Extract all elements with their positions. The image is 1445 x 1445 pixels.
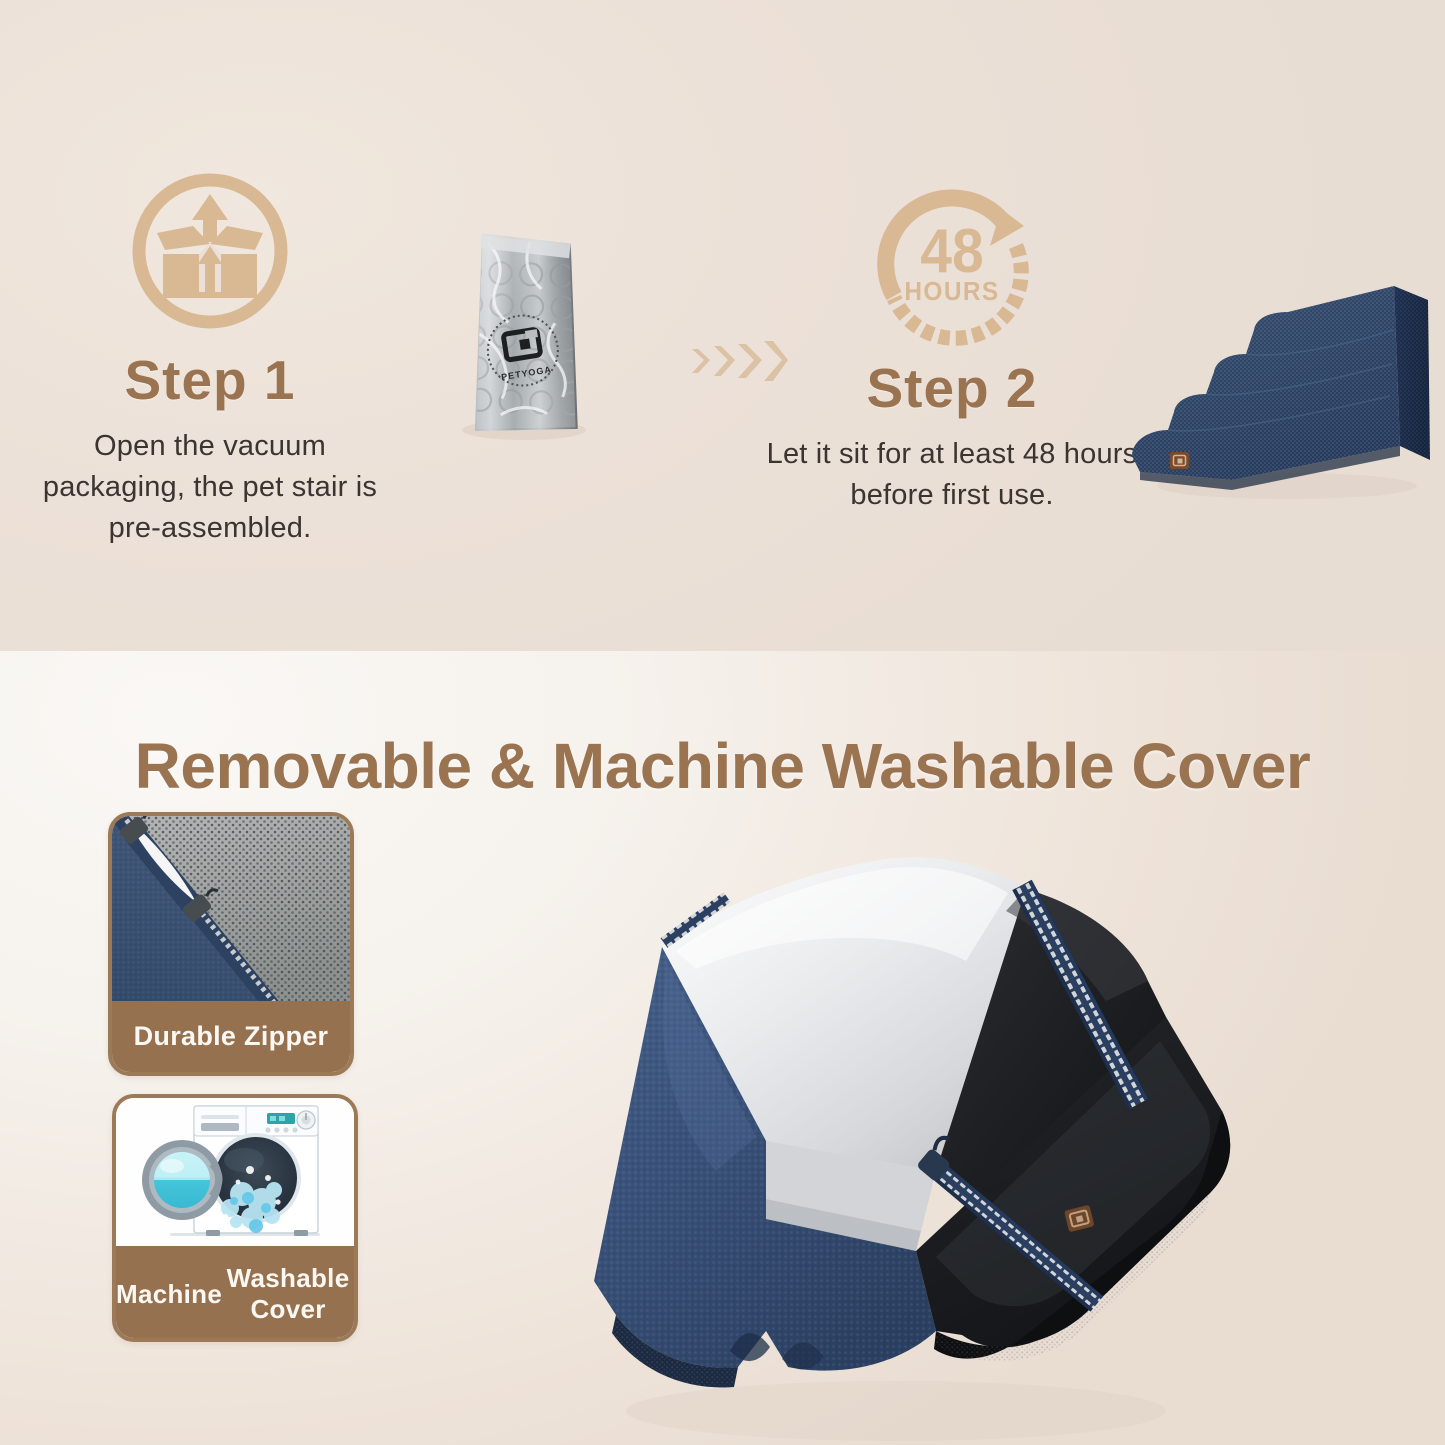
feature-card-caption: Machine Washable Cover (116, 1246, 354, 1342)
step-description: Open the vacuum packaging, the pet stair… (20, 426, 400, 550)
feature-card-machine-washable: Machine Washable Cover (112, 1094, 358, 1342)
48-hours-circular-arrow-icon: 48 HOURS (864, 176, 1040, 352)
step-1-block: Step 1 Open the vacuum packaging, the pe… (20, 168, 400, 549)
feature-card-caption: Durable Zipper (112, 1001, 350, 1072)
step-heading: Step 1 (20, 352, 400, 410)
caption-line-2: Washable Cover (222, 1263, 354, 1324)
vacuum-packed-roll-photo: PETYOGA (432, 224, 618, 440)
washing-machine-illustration (116, 1098, 354, 1246)
svg-text:HOURS: HOURS (904, 277, 999, 306)
step-description: Let it sit for at least 48 hours before … (762, 434, 1142, 516)
hero-product-photo (466, 811, 1256, 1445)
infographic-page: Step 1 Open the vacuum packaging, the pe… (0, 0, 1445, 1445)
feature-card-durable-zipper: Durable Zipper (108, 812, 354, 1076)
washable-cover-panel: Removable & Machine Washable Cover (0, 651, 1445, 1445)
steps-panel: Step 1 Open the vacuum packaging, the pe… (0, 0, 1445, 651)
svg-text:48: 48 (920, 216, 983, 286)
step-heading: Step 2 (762, 360, 1142, 418)
step-2-block: 48 HOURS Step 2 Let it sit for at least … (762, 176, 1142, 516)
caption-line-1: Machine (116, 1279, 222, 1310)
page-title: Removable & Machine Washable Cover (0, 729, 1445, 803)
open-box-arrow-up-icon (127, 168, 293, 334)
zipper-closeup-photo (112, 816, 350, 1001)
pet-stair-product-photo (1112, 234, 1442, 502)
